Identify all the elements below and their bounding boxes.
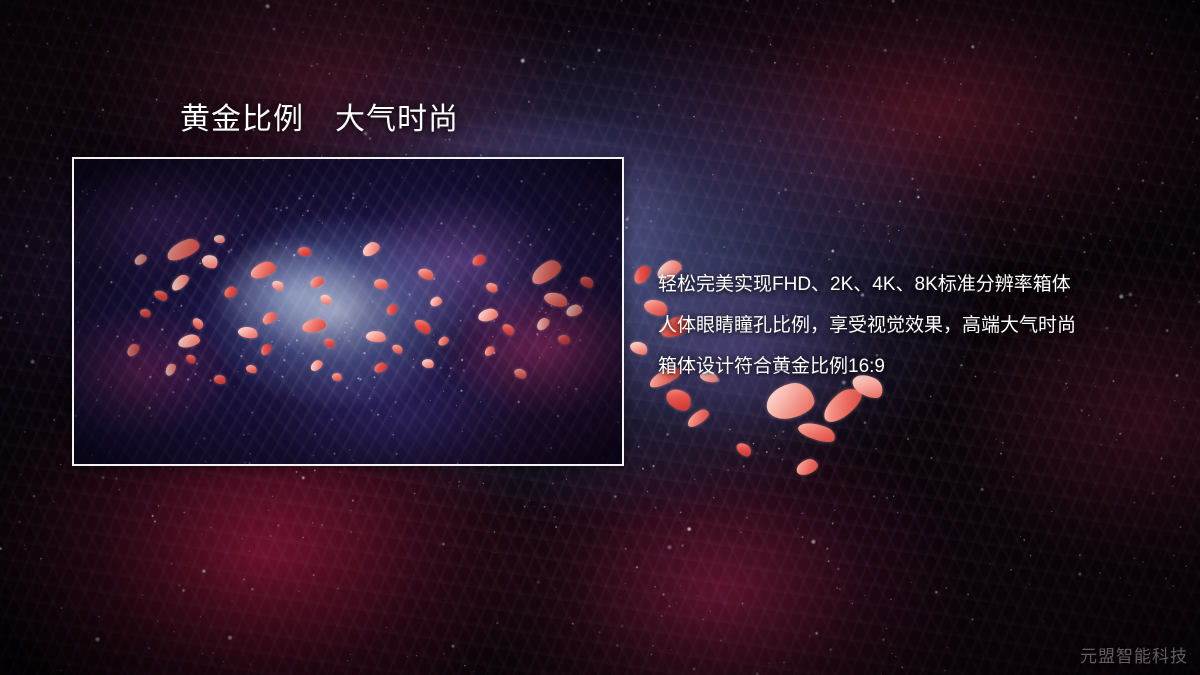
flower-petal (685, 407, 712, 429)
photo-vignette (74, 159, 622, 464)
body-line-3: 箱体设计符合黄金比例16:9 (658, 346, 1178, 387)
body-line-1: 轻松完美实现FHD、2K、4K、8K标准分辨率箱体 (658, 264, 1178, 305)
flower-petal (631, 263, 654, 287)
company-watermark: 元盟智能科技 (1080, 642, 1188, 667)
flower-petal (663, 384, 695, 414)
slide-title: 黄金比例 大气时尚 (180, 101, 459, 139)
photo-inner (74, 159, 622, 464)
framed-photo-16-9 (72, 157, 624, 466)
flower-petal (794, 457, 819, 478)
presentation-slide: 黄金比例 大气时尚 轻松完美实现FHD、2K、4K、8K标准分辨率箱体 人体眼睛… (0, 0, 1200, 675)
flower-petal (628, 339, 649, 357)
slide-body-text: 轻松完美实现FHD、2K、4K、8K标准分辨率箱体 人体眼睛瞳孔比例，享受视觉效… (658, 264, 1178, 387)
flower-petal (734, 440, 753, 459)
body-line-2: 人体眼睛瞳孔比例，享受视觉效果，高端大气时尚 (658, 305, 1178, 346)
